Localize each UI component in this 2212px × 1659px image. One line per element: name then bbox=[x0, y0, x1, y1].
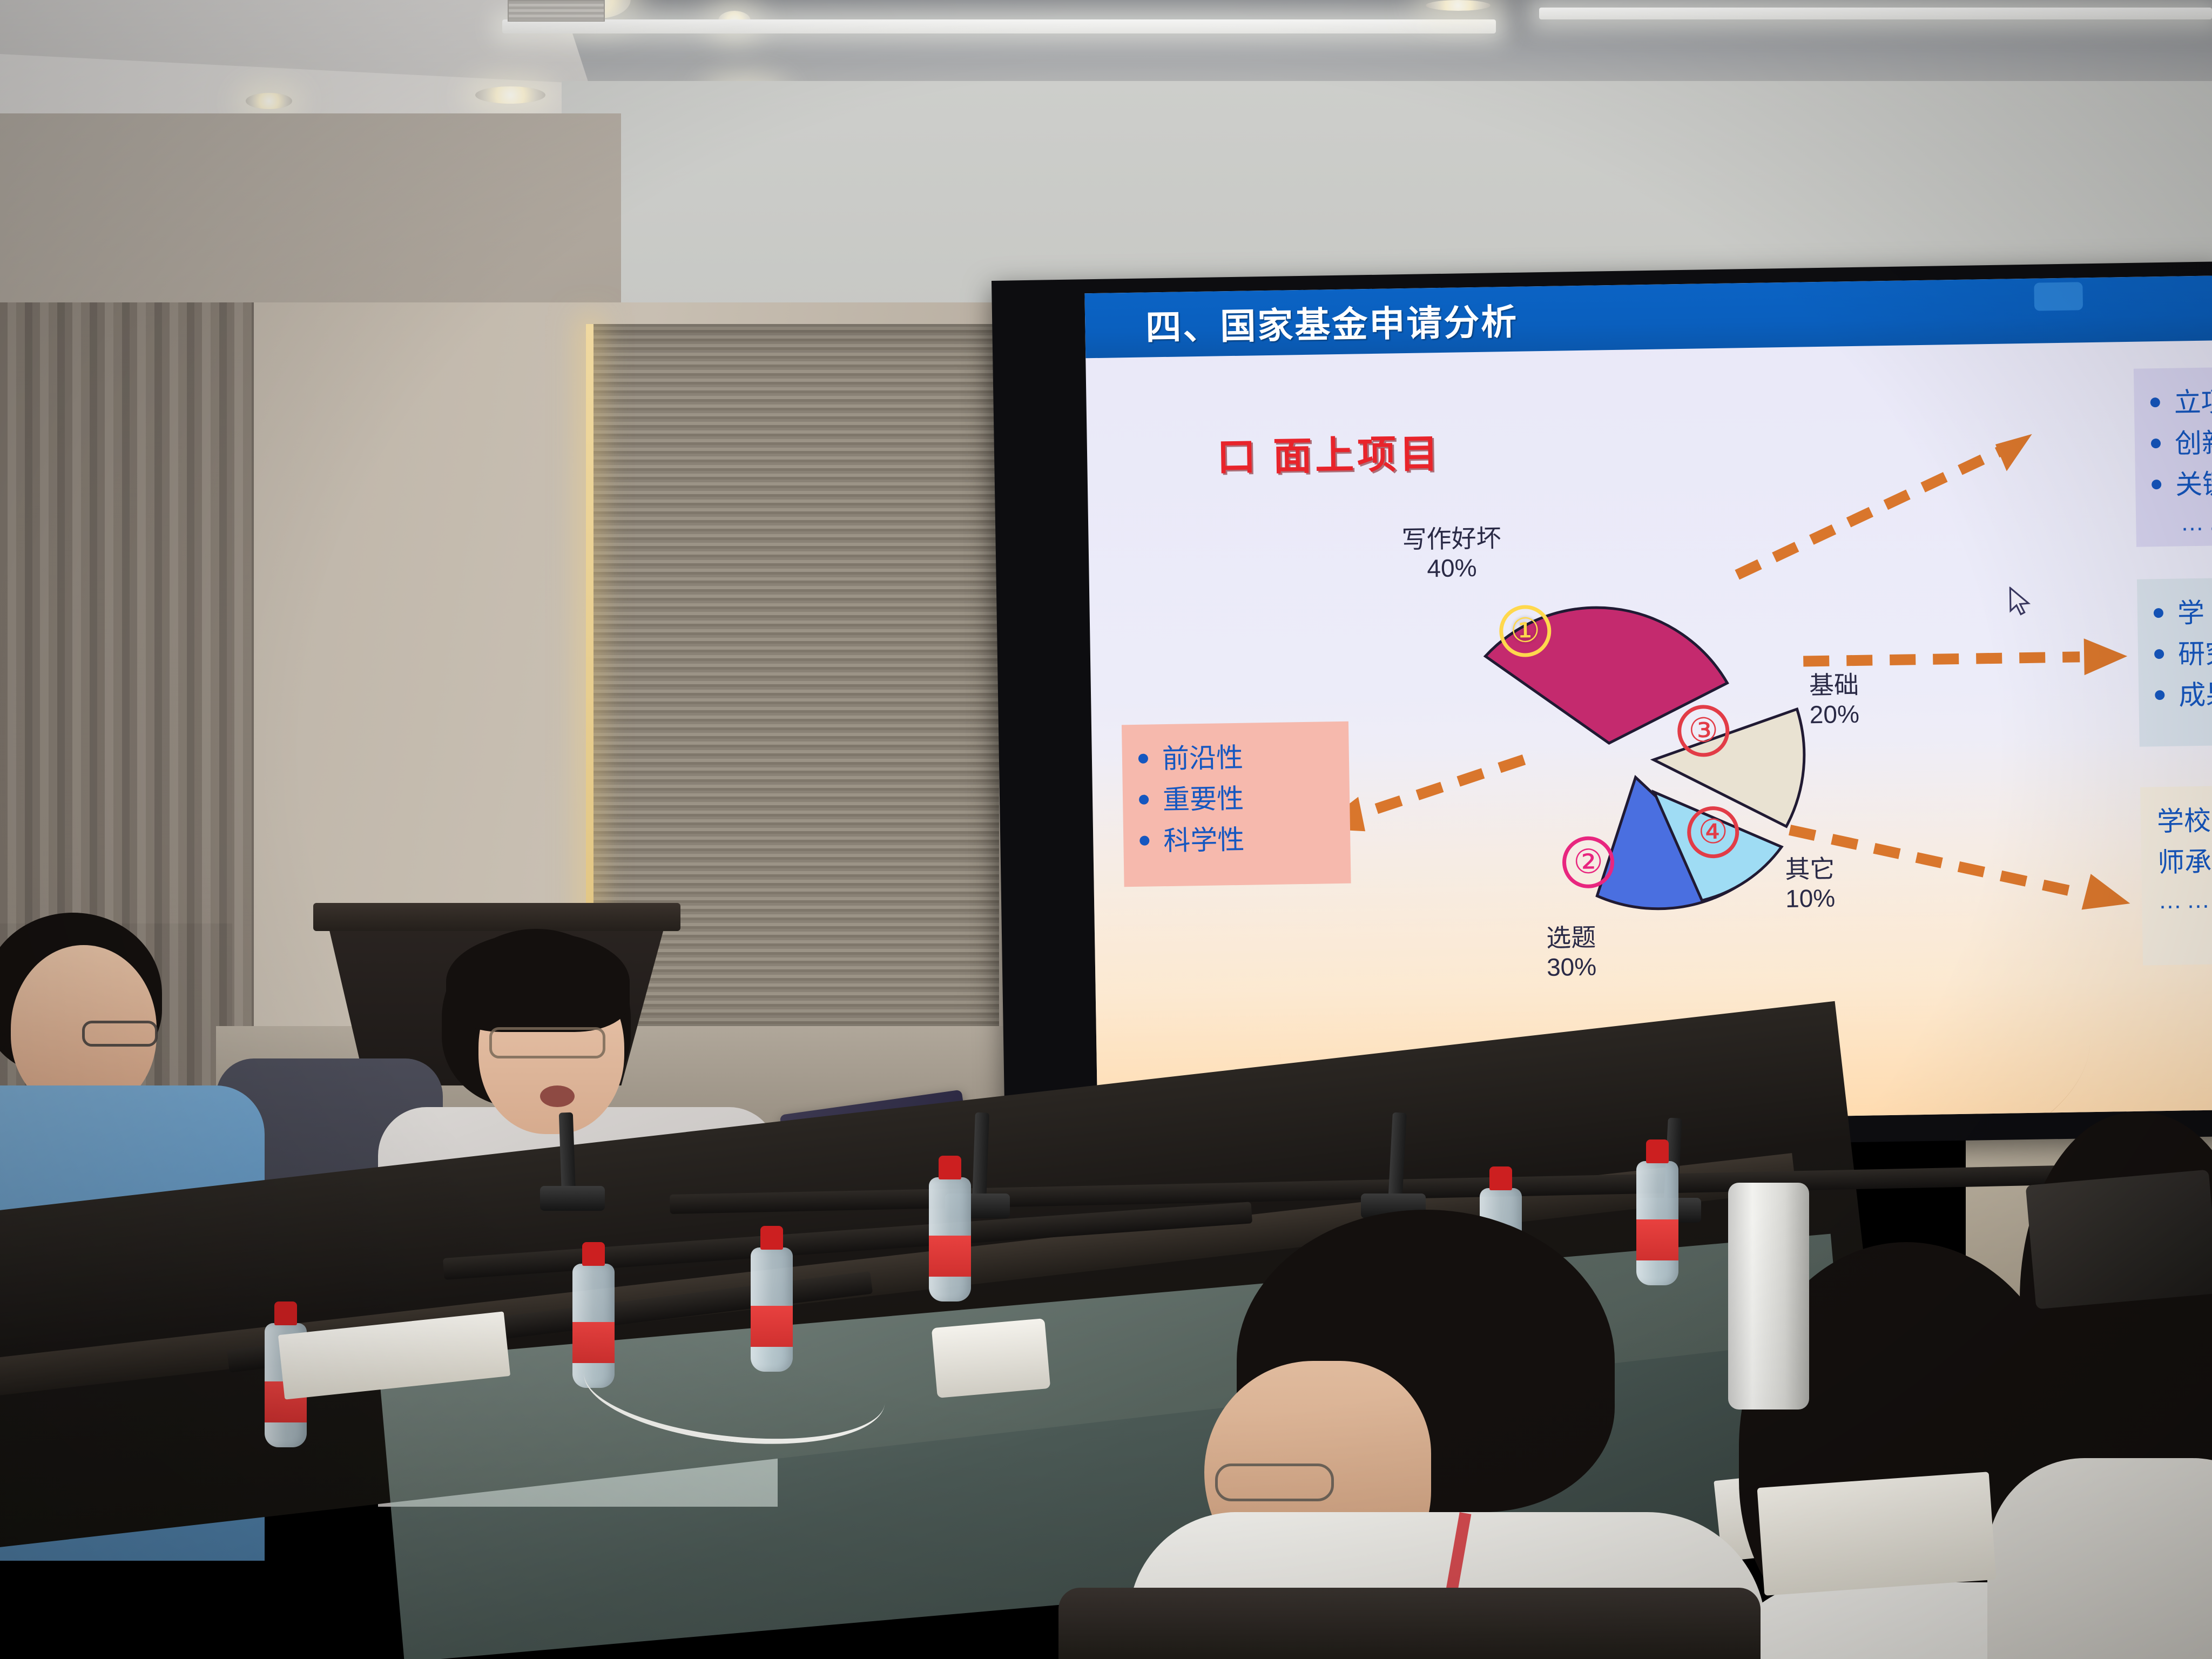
water-bottle bbox=[929, 1177, 971, 1301]
arrow-to-background-box bbox=[1790, 817, 2159, 933]
projection-screen-frame: 四、国家基金申请分析 口 面上项目 ① bbox=[992, 261, 2212, 1156]
slide-section-heading: 口 面上项目 bbox=[1216, 422, 1442, 482]
audience-glasses bbox=[1215, 1464, 1334, 1501]
cable-splitter-box bbox=[932, 1318, 1051, 1398]
list-item-label: 重要性 bbox=[1163, 778, 1244, 820]
list-item: 关键科学 bbox=[2152, 460, 2212, 505]
bullet-icon bbox=[1138, 754, 1148, 764]
pie-label-writing: 写作好坏40% bbox=[1401, 523, 1502, 583]
list-item-label: 学校 bbox=[2156, 800, 2211, 842]
list-item-label: 学 历 bbox=[2177, 592, 2212, 634]
presenter-hair-fringe bbox=[446, 932, 630, 1032]
presenter-glasses bbox=[489, 1027, 605, 1058]
text-box-background[interactable]: 学校 师承 人 文 …… bbox=[2140, 783, 2212, 966]
text-box-quality[interactable]: 前沿性 重要性 科学性 bbox=[1122, 721, 1351, 887]
list-item: 立项依据 bbox=[2150, 378, 2212, 423]
notebook-page bbox=[1757, 1472, 1997, 1596]
list-item: 学 历 bbox=[2153, 589, 2212, 634]
bullet-icon bbox=[2152, 480, 2161, 489]
ceiling-downlight bbox=[246, 93, 292, 109]
microphone-base bbox=[540, 1186, 605, 1211]
ceiling-downlight bbox=[475, 86, 545, 104]
list-item: 成果 bbox=[2155, 671, 2212, 716]
bullet-icon bbox=[2154, 608, 2163, 618]
bottle-label bbox=[932, 1242, 968, 1272]
conference-room: 四、国家基金申请分析 口 面上项目 ① bbox=[0, 0, 2212, 1659]
arrow-to-qualification-box bbox=[1803, 633, 2149, 684]
list-item: 前沿性 bbox=[1138, 736, 1333, 780]
text-box-innovation[interactable]: 立项依据 创新性 关键科学 …… bbox=[2134, 364, 2212, 547]
ceiling-tube-light bbox=[1539, 8, 2212, 19]
list-item-label: 科学性 bbox=[1163, 819, 1245, 861]
bullet-icon bbox=[2150, 397, 2160, 407]
list-item: 重要性 bbox=[1139, 777, 1334, 821]
bullet-icon bbox=[2154, 649, 2164, 659]
list-item-label: 前沿性 bbox=[1162, 737, 1243, 779]
tablet-device bbox=[2026, 1170, 2212, 1310]
ceiling-air-grille bbox=[508, 0, 605, 22]
lectern-top bbox=[313, 903, 680, 931]
bullet-icon bbox=[2151, 439, 2161, 448]
list-item: 创新性 bbox=[2150, 419, 2212, 464]
mouse-pointer-icon bbox=[2007, 586, 2033, 621]
list-item-label: 师承 bbox=[2157, 841, 2212, 884]
list-item-label: 立项依据 bbox=[2174, 380, 2212, 423]
list-item: 科学性 bbox=[1139, 818, 1334, 862]
foreground-shadow-block bbox=[1058, 1588, 1761, 1659]
presenter-mouth bbox=[540, 1085, 575, 1107]
attendee-glasses bbox=[82, 1021, 158, 1047]
microphone bbox=[559, 1112, 576, 1194]
projection-screen[interactable]: 四、国家基金申请分析 口 面上项目 ① bbox=[1084, 275, 2212, 1128]
bullet-icon bbox=[2155, 690, 2164, 700]
title-bar-chip bbox=[2034, 282, 2083, 311]
background-col-1: 学校 师承 bbox=[2156, 800, 2211, 884]
list-item-label: 创新性 bbox=[2174, 422, 2212, 464]
list-ellipsis: …… bbox=[2152, 501, 2212, 542]
list-ellipsis: …… bbox=[2158, 879, 2212, 919]
bullet-icon bbox=[1139, 836, 1149, 846]
slide-title: 四、国家基金申请分析 bbox=[1145, 293, 1519, 351]
list-item-label: 成果 bbox=[2179, 674, 2212, 716]
list-item: 研究经历 bbox=[2154, 630, 2212, 675]
bullet-icon bbox=[1139, 795, 1149, 805]
list-item-label: 研究经历 bbox=[2178, 632, 2212, 675]
arrow-to-innovation-box bbox=[1729, 424, 2067, 589]
ceiling-tube-light bbox=[502, 19, 1496, 33]
ceiling-downlight bbox=[1426, 0, 1491, 11]
audience-torso bbox=[1987, 1458, 2212, 1659]
pie-label-topic: 选题30% bbox=[1546, 923, 1597, 982]
text-box-qualification[interactable]: 学 历 研究经历 成果 bbox=[2137, 575, 2212, 747]
insulated-tumbler bbox=[1728, 1183, 1809, 1410]
list-item-label: 关键科学 bbox=[2175, 462, 2212, 505]
slide-title-bar: 四、国家基金申请分析 bbox=[1084, 275, 2212, 358]
